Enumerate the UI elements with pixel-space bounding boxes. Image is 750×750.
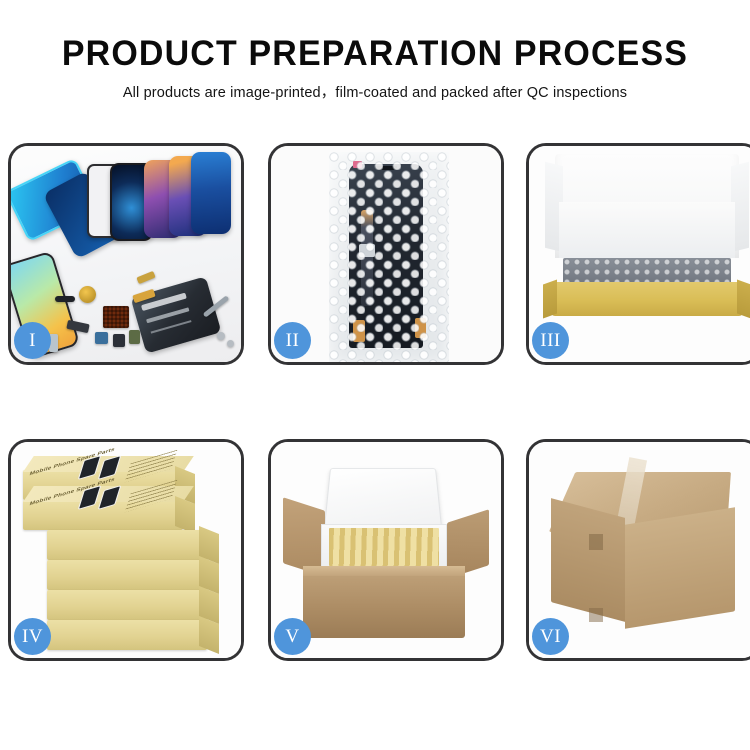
- step-badge-2: II: [274, 322, 311, 359]
- retail-box-spec-lines: [125, 450, 178, 482]
- process-step-4[interactable]: Mobile Phone Spare Parts Mobile Phone Sp…: [8, 439, 244, 661]
- styrofoam-lid: [324, 468, 443, 531]
- part-chip-square: [113, 334, 125, 347]
- product-preparation-infographic: PRODUCT PREPARATION PROCESS All products…: [0, 0, 750, 750]
- carton-front-panel: [303, 566, 465, 638]
- process-row-2: Mobile Phone Spare Parts Mobile Phone Sp…: [8, 439, 742, 661]
- step-badge-3: III: [532, 322, 569, 359]
- retail-box-lid-face-2: Mobile Phone Spare Parts: [23, 486, 194, 502]
- carton-left-face: [551, 498, 625, 622]
- process-grid: I: [8, 143, 742, 661]
- retail-box-3: [47, 530, 207, 560]
- process-step-1[interactable]: I: [8, 143, 244, 365]
- retail-box-4: [47, 560, 207, 590]
- tray-box-base: [551, 282, 743, 316]
- process-row-1: I: [8, 143, 742, 365]
- part-camera-module: [95, 332, 108, 344]
- part-taptic-coil: [79, 286, 96, 303]
- header: PRODUCT PREPARATION PROCESS All products…: [0, 34, 750, 103]
- carton-flap-left: [283, 497, 325, 577]
- part-screw-b: [227, 340, 234, 347]
- part-screw-plate: [103, 306, 129, 328]
- page-title: PRODUCT PREPARATION PROCESS: [11, 34, 739, 74]
- packed-retail-boxes: [329, 528, 439, 566]
- retail-box-phone-image-b: [98, 455, 122, 480]
- retail-box-phone-image-d: [98, 485, 122, 510]
- carton-seam-upper: [589, 534, 603, 550]
- process-step-5[interactable]: V: [268, 439, 504, 661]
- step-badge-1: I: [14, 322, 51, 359]
- bubble-texture: [329, 152, 449, 362]
- carton-right-face: [625, 507, 735, 628]
- process-step-6[interactable]: VI: [526, 439, 750, 661]
- part-battery-connector: [129, 330, 140, 344]
- carton-seam-lower: [589, 608, 603, 622]
- retail-box-stack: Mobile Phone Spare Parts Mobile Phone Sp…: [17, 456, 239, 652]
- step-badge-5: V: [274, 618, 311, 655]
- retail-box-2: Mobile Phone Spare Parts: [23, 500, 183, 530]
- retail-box-6: [47, 620, 207, 650]
- phone-screen-blue-wave: [191, 152, 231, 234]
- process-step-3[interactable]: III: [526, 143, 750, 365]
- step-badge-6: VI: [532, 618, 569, 655]
- page-subtitle: All products are image-printed，film-coat…: [0, 83, 750, 103]
- tray-foam-sheet: [559, 202, 735, 258]
- part-screw-a: [217, 332, 225, 340]
- bubble-wrap-bag: [329, 152, 449, 362]
- retail-box-5: [47, 590, 207, 620]
- part-speaker-grille: [55, 296, 75, 302]
- process-step-2[interactable]: II: [268, 143, 504, 365]
- step-badge-4: IV: [14, 618, 51, 655]
- retail-box-lid-face: Mobile Phone Spare Parts: [23, 456, 194, 472]
- part-gold-contact-strip: [136, 271, 155, 284]
